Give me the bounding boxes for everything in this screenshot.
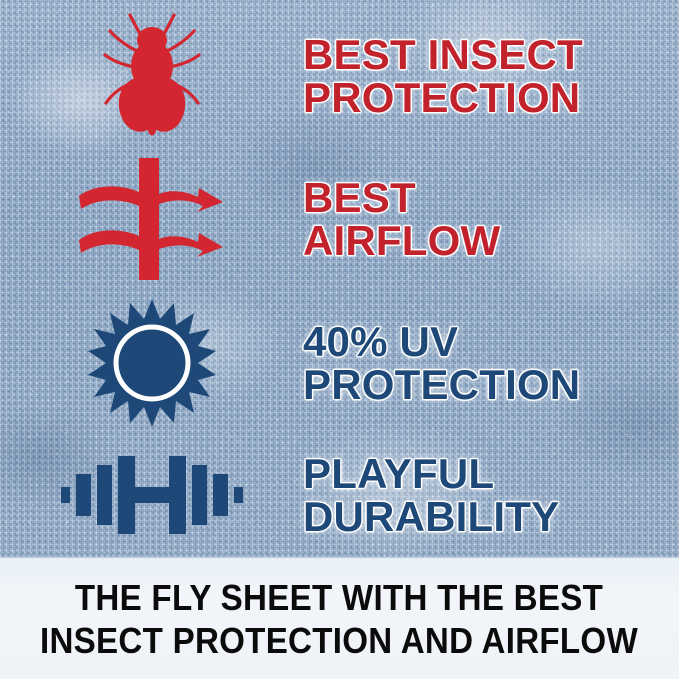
feature-label-cell: BEST INSECT PROTECTION [303, 33, 679, 119]
sun-uv-icon [88, 299, 216, 427]
feature-label: 40% UV PROTECTION [303, 320, 669, 406]
feature-label: BEST INSECT PROTECTION [303, 33, 669, 119]
feature-row: 40% UV PROTECTION [0, 296, 679, 430]
feature-icon-cell [0, 452, 303, 538]
feature-label: PLAYFUL DURABILITY [303, 452, 669, 538]
product-feature-infographic: BEST INSECT PROTECTION BEST AIRFLOW [0, 0, 679, 679]
airflow-icon [73, 156, 231, 282]
feature-label-cell: 40% UV PROTECTION [303, 320, 679, 406]
fly-icon [93, 11, 211, 141]
feature-row: PLAYFUL DURABILITY [0, 436, 679, 554]
feature-label: BEST AIRFLOW [303, 176, 669, 262]
feature-label-cell: PLAYFUL DURABILITY [303, 452, 679, 538]
caption-text: THE FLY SHEET WITH THE BEST INSECT PROTE… [40, 576, 638, 662]
feature-icon-cell [0, 11, 303, 141]
feature-icon-cell [0, 299, 303, 427]
feature-row: BEST AIRFLOW [0, 152, 679, 286]
dumbbell-icon [61, 452, 243, 538]
feature-icon-cell [0, 156, 303, 282]
caption-bar: THE FLY SHEET WITH THE BEST INSECT PROTE… [0, 557, 679, 679]
feature-label-cell: BEST AIRFLOW [303, 176, 679, 262]
feature-row: BEST INSECT PROTECTION [0, 6, 679, 146]
feature-list: BEST INSECT PROTECTION BEST AIRFLOW [0, 0, 679, 557]
